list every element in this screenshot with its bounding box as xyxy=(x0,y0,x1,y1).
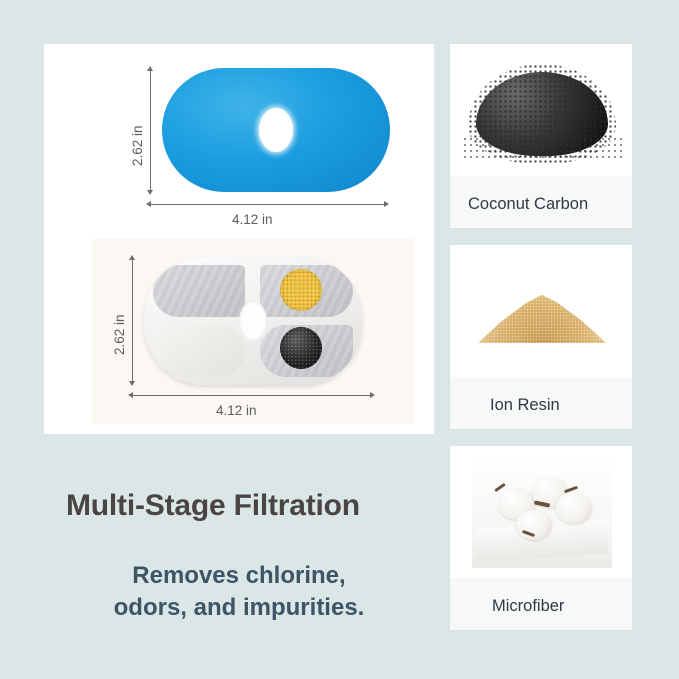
ion-resin-dot xyxy=(280,269,322,311)
cartridge-height-dimension-line xyxy=(132,259,133,383)
page-subtitle: Removes chlorine, odors, and impurities. xyxy=(44,560,434,625)
material-card-label: Ion Resin xyxy=(450,396,632,415)
cartridge-figure: 2.62 in 4.12 in xyxy=(92,239,414,424)
infographic-canvas: 2.62 in 4.12 in xyxy=(0,0,679,679)
cartridge-height-label: 2.62 in xyxy=(112,314,127,355)
cartridge-height-arrow-up-icon xyxy=(129,255,135,260)
blue-pad-figure: 2.62 in 4.12 in xyxy=(104,62,414,247)
coconut-carbon-dot xyxy=(280,327,322,369)
cotton-scene xyxy=(472,458,612,568)
page-title: Multi-Stage Filtration xyxy=(66,489,426,522)
pad-height-arrow-up-icon xyxy=(147,66,153,71)
ion-resin-photo xyxy=(450,245,632,377)
pad-height-label: 2.62 in xyxy=(130,125,145,166)
cartridge-body xyxy=(144,257,362,385)
cartridge-width-label: 4.12 in xyxy=(216,403,257,418)
product-diagram-card: 2.62 in 4.12 in xyxy=(44,44,434,434)
subtitle-line-1: Removes chlorine, xyxy=(44,560,434,592)
chamber-bottom-left xyxy=(153,325,245,377)
cartridge-width-dimension-line xyxy=(132,395,370,396)
cartridge-height-arrow-down-icon xyxy=(129,381,135,386)
resin-bead-pile xyxy=(478,287,606,343)
pad-width-dimension-line xyxy=(150,204,384,205)
coconut-carbon-photo xyxy=(450,44,632,176)
blue-foam-filter-pad xyxy=(162,68,390,192)
multi-chamber-filter-cartridge xyxy=(144,257,362,385)
material-card-coconut-carbon: Coconut Carbon xyxy=(450,44,632,228)
material-card-label: Microfiber xyxy=(450,597,632,616)
cotton-boll xyxy=(556,492,592,524)
cartridge-width-arrow-left-icon xyxy=(128,392,133,398)
pad-width-label: 4.12 in xyxy=(232,212,273,227)
cartridge-center-hole xyxy=(239,301,267,341)
microfiber-photo xyxy=(450,446,632,578)
material-card-microfiber: Microfiber xyxy=(450,446,632,630)
material-card-ion-resin: Ion Resin xyxy=(450,245,632,429)
pad-height-dimension-line xyxy=(150,70,151,192)
carbon-granule-pile xyxy=(476,72,608,156)
pad-width-arrow-right-icon xyxy=(384,201,389,207)
cartridge-width-arrow-right-icon xyxy=(370,392,375,398)
pad-height-arrow-down-icon xyxy=(147,190,153,195)
material-card-label: Coconut Carbon xyxy=(450,195,632,214)
pad-center-hole xyxy=(259,108,293,152)
subtitle-line-2: odors, and impurities. xyxy=(44,592,434,624)
pad-width-arrow-left-icon xyxy=(146,201,151,207)
chamber-top-left xyxy=(153,265,245,317)
